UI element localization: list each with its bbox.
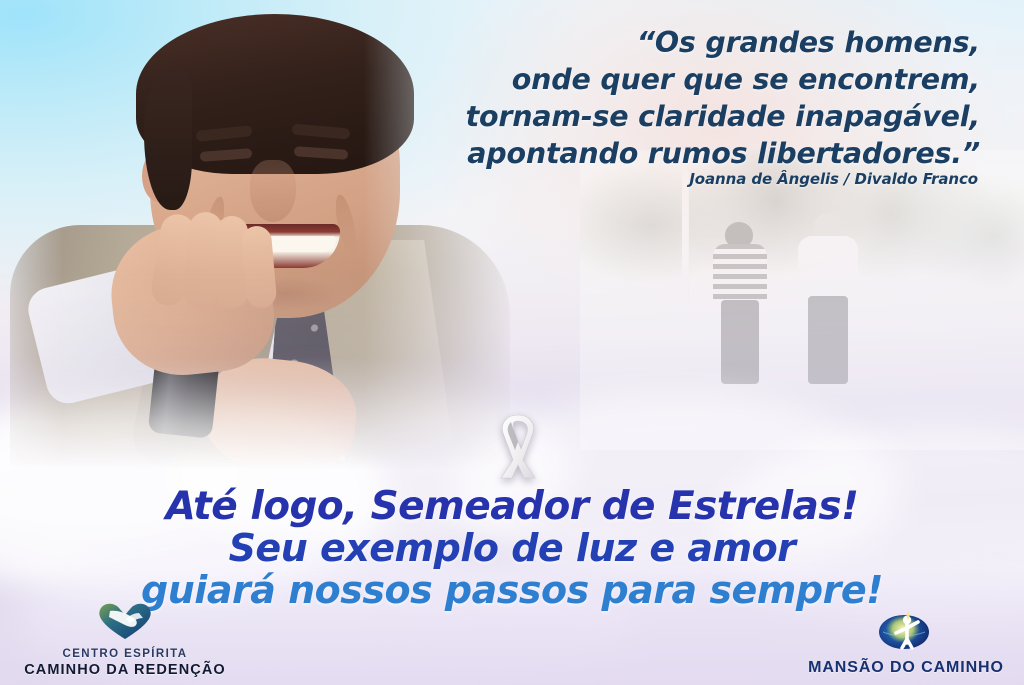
white-ribbon-icon <box>487 408 549 482</box>
logo-mansao-do-caminho: MANSÃO DO CAMINHO <box>796 609 1016 677</box>
quote-line-3: tornam-se claridade inapagável, <box>340 98 980 135</box>
quote-line-2: onde quer que se encontrem, <box>340 61 980 98</box>
quote-line-4: apontando rumos libertadores.” <box>340 135 980 172</box>
quote-text: “Os grandes homens, onde quer que se enc… <box>340 24 980 172</box>
logo-left-line-1: CENTRO ESPÍRITA <box>10 648 240 662</box>
quote-line-1: “Os grandes homens, <box>340 24 980 61</box>
headline-line-1: Até logo, Semeador de Estrelas! <box>0 486 1024 528</box>
memorial-poster: “Os grandes homens, onde quer que se enc… <box>0 0 1024 685</box>
logo-centro-espirita: CENTRO ESPÍRITA CAMINHO DA REDENÇÃO <box>10 599 240 679</box>
headline: Até logo, Semeador de Estrelas! Seu exem… <box>0 486 1024 611</box>
logo-right-line-1: MANSÃO DO CAMINHO <box>796 658 1016 677</box>
headline-line-2: Seu exemplo de luz e amor <box>0 528 1024 570</box>
heart-with-hands-icon <box>10 599 240 646</box>
quote-attribution: Joanna de Ângelis / Divaldo Franco <box>338 170 978 188</box>
globe-with-figure-icon <box>796 609 1016 656</box>
logo-left-line-2: CAMINHO DA REDENÇÃO <box>10 662 240 679</box>
